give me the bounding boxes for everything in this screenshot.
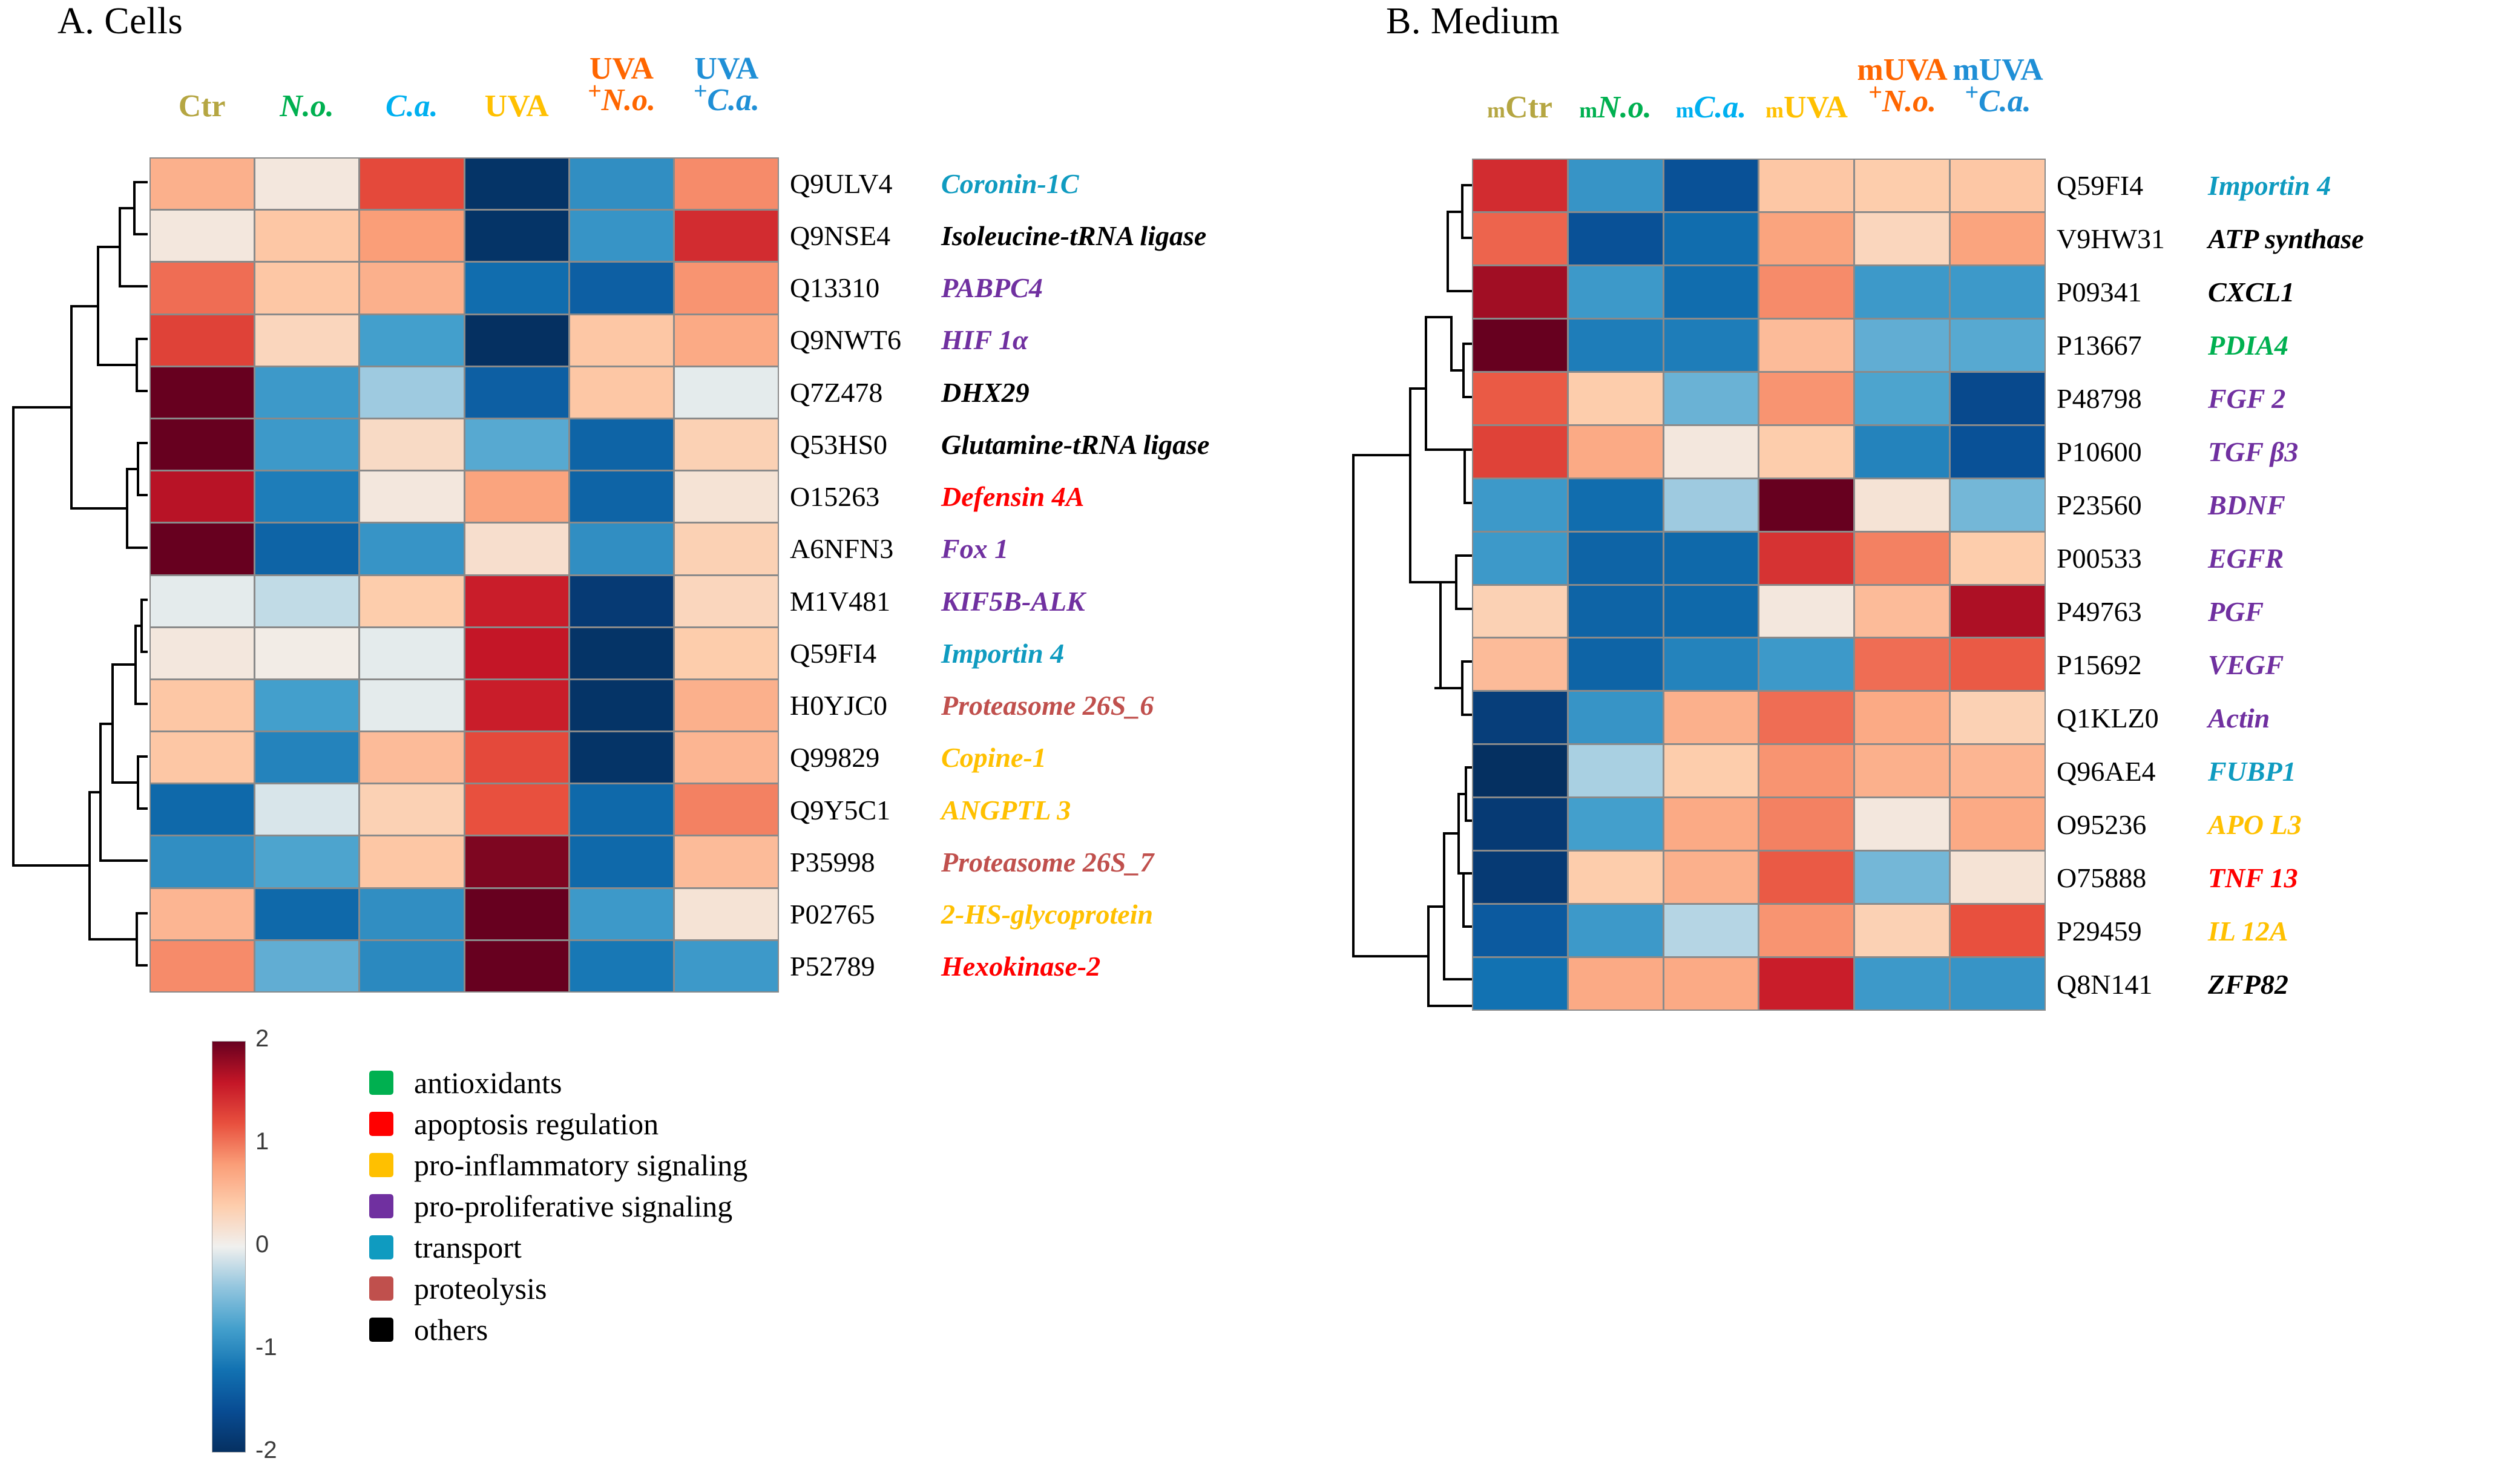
heatmap-cell <box>1951 479 2045 531</box>
heatmap-cell <box>1759 426 1853 478</box>
protein-name: PABPC4 <box>941 272 1043 304</box>
row-label: Q13310PABPC4 <box>790 262 1043 314</box>
heatmap-cell <box>570 836 673 887</box>
row-label: Q7Z478DHX29 <box>790 366 1030 418</box>
row-label: Q1KLZ0Actin <box>2057 691 2270 744</box>
protein-accession: P13667 <box>2057 329 2208 361</box>
colorbar-gradient <box>212 1041 246 1453</box>
row-label: P49763PGF <box>2057 585 2264 638</box>
protein-accession: O75888 <box>2057 862 2208 894</box>
protein-name: Proteasome 26S_6 <box>941 689 1154 721</box>
column-header-label: mC.a. <box>1663 92 1759 123</box>
heatmap-cell <box>1855 958 1949 1010</box>
heatmap-cell <box>675 471 778 522</box>
heatmap-cell <box>1951 320 2045 371</box>
heatmap-cell <box>1759 639 1853 690</box>
column-header-label: C.a. <box>360 91 464 122</box>
heatmap-cell <box>465 576 568 626</box>
heatmap-cell <box>675 315 778 366</box>
panel-b-row-dendrogram <box>1338 159 1477 1012</box>
heatmap-cell <box>675 367 778 418</box>
row-label: P15692VEGF <box>2057 638 2284 691</box>
heatmap-cell <box>255 941 358 991</box>
heatmap-cell <box>1569 905 1663 956</box>
heatmap-cell <box>1759 479 1853 531</box>
heatmap-cell <box>1951 266 2045 318</box>
heatmap-cell <box>570 471 673 522</box>
column-header-main: N.o. <box>1597 90 1652 125</box>
column-header-line2: +C.a. <box>674 85 779 116</box>
heatmap-cell <box>151 159 254 209</box>
legend-label: apoptosis regulation <box>414 1106 659 1141</box>
row-label: P10600TGF β3 <box>2057 425 2298 478</box>
colorbar-tick-label: 1 <box>255 1128 269 1155</box>
column-header-label: mN.o. <box>1568 92 1663 123</box>
heatmap-cell <box>255 680 358 731</box>
protein-name: FGF 2 <box>2208 382 2285 415</box>
plus-superscript: + <box>588 77 602 105</box>
column-header-line2: +C.a. <box>1950 86 2046 117</box>
heatmap-cell <box>570 315 673 366</box>
protein-name: VEGF <box>2208 649 2284 681</box>
heatmap-cell <box>570 367 673 418</box>
protein-name: TGF β3 <box>2208 436 2298 468</box>
heatmap-cell <box>1664 745 1758 796</box>
column-header-label: mCtr <box>1472 92 1568 123</box>
heatmap-cell <box>675 263 778 313</box>
heatmap-cell <box>1664 320 1758 371</box>
column-header-prefix: m <box>1676 98 1694 122</box>
heatmap-cell <box>360 524 463 574</box>
protein-accession: O95236 <box>2057 809 2208 841</box>
heatmap-cell <box>255 159 358 209</box>
heatmap-cell <box>1855 852 1949 903</box>
heatmap-cell <box>1855 479 1949 531</box>
column-header-prefix: m <box>1579 98 1597 122</box>
heatmap-cell <box>1664 373 1758 424</box>
heatmap-cell <box>1473 852 1567 903</box>
colorbar-tick-label: -1 <box>255 1334 277 1361</box>
heatmap-cell <box>1664 426 1758 478</box>
column-header-line2: +N.o. <box>1854 86 1950 117</box>
heatmap-cell <box>1664 692 1758 743</box>
heatmap-cell <box>360 419 463 470</box>
heatmap-cell <box>570 419 673 470</box>
heatmap-cell <box>360 889 463 939</box>
protein-accession: P15692 <box>2057 649 2208 681</box>
heatmap-cell <box>1951 798 2045 850</box>
heatmap-cell <box>1569 639 1663 690</box>
row-label: O15263Defensin 4A <box>790 471 1084 523</box>
heatmap-cell <box>570 628 673 678</box>
heatmap-cell <box>1473 798 1567 850</box>
heatmap-cell <box>465 159 568 209</box>
heatmap-cell <box>255 732 358 783</box>
heatmap-cell <box>1951 852 2045 903</box>
heatmap-cell <box>255 836 358 887</box>
column-header-line1: UVA <box>674 53 779 85</box>
heatmap-cell <box>360 315 463 366</box>
legend-color-swatch <box>369 1194 393 1218</box>
legend-color-swatch <box>369 1276 393 1301</box>
protein-name: Glutamine-tRNA ligase <box>941 428 1209 461</box>
heatmap-cell <box>1855 266 1949 318</box>
heatmap-cell <box>151 784 254 835</box>
heatmap-cell <box>465 784 568 835</box>
protein-accession: Q9ULV4 <box>790 168 941 200</box>
heatmap-cell <box>1855 320 1949 371</box>
column-header-label: N.o. <box>254 91 359 122</box>
heatmap-cell <box>1569 266 1663 318</box>
row-label: H0YJC0Proteasome 26S_6 <box>790 680 1154 732</box>
column-header-label: mUVA <box>1759 92 1854 123</box>
heatmap-cell <box>675 576 778 626</box>
heatmap-cell <box>1664 798 1758 850</box>
protein-accession: P23560 <box>2057 489 2208 521</box>
heatmap-cell <box>1664 266 1758 318</box>
protein-accession: P29459 <box>2057 915 2208 947</box>
heatmap-cell <box>465 263 568 313</box>
heatmap-cell <box>255 628 358 678</box>
heatmap-cell <box>1855 639 1949 690</box>
protein-name: EGFR <box>2208 542 2284 574</box>
heatmap-cell <box>1951 692 2045 743</box>
column-header-2: N.o. <box>254 91 359 122</box>
heatmap-cell <box>570 524 673 574</box>
heatmap-cell <box>1473 373 1567 424</box>
heatmap-cell <box>1759 320 1853 371</box>
heatmap-cell <box>360 784 463 835</box>
column-header-main: Ctr <box>179 89 226 123</box>
column-header-prefix: m <box>1765 98 1784 122</box>
heatmap-cell <box>675 211 778 261</box>
heatmap-cell <box>1855 373 1949 424</box>
heatmap-cell <box>1473 320 1567 371</box>
column-header-main: N.o. <box>280 89 334 123</box>
protein-name: Fox 1 <box>941 533 1008 565</box>
heatmap-cell <box>1951 586 2045 637</box>
protein-name: Importin 4 <box>2208 169 2331 202</box>
heatmap-cell <box>1569 798 1663 850</box>
heatmap-cell <box>1759 798 1853 850</box>
heatmap-cell <box>1759 692 1853 743</box>
heatmap-cell <box>675 941 778 991</box>
protein-accession: P35998 <box>790 846 941 878</box>
heatmap-cell <box>255 784 358 835</box>
protein-accession: P48798 <box>2057 382 2208 415</box>
row-label: Q9NSE4Isoleucine-tRNA ligase <box>790 209 1206 261</box>
panel-a-title: A. Cells <box>57 0 183 43</box>
protein-name: APO L3 <box>2208 809 2302 841</box>
legend-item-1: antioxidants <box>369 1062 747 1103</box>
protein-accession: Q1KLZ0 <box>2057 702 2208 734</box>
heatmap-cell <box>465 680 568 731</box>
protein-name: IL 12A <box>2208 915 2288 947</box>
colorbar-tick-label: 2 <box>255 1025 269 1052</box>
category-legend: antioxidantsapoptosis regulationpro-infl… <box>369 1062 747 1350</box>
heatmap-cell <box>1473 426 1567 478</box>
protein-name: Importin 4 <box>941 637 1064 669</box>
heatmap-cell <box>1664 213 1758 264</box>
column-header-label: Ctr <box>149 91 254 122</box>
row-label: P52789Hexokinase-2 <box>790 941 1100 993</box>
heatmap-cell <box>360 576 463 626</box>
heatmap-cell <box>1569 692 1663 743</box>
heatmap-cell <box>1759 905 1853 956</box>
protein-name: Proteasome 26S_7 <box>941 846 1154 878</box>
panel-b-title: B. Medium <box>1386 0 1560 43</box>
heatmap-cell <box>1759 852 1853 903</box>
heatmap-cell <box>1759 160 1853 211</box>
protein-name: ANGPTL 3 <box>941 794 1071 826</box>
column-header-main: UVA <box>485 89 549 123</box>
legend-item-2: apoptosis regulation <box>369 1103 747 1144</box>
heatmap-cell <box>675 836 778 887</box>
heatmap-cell <box>675 889 778 939</box>
legend-color-swatch <box>369 1071 393 1095</box>
heatmap-cell <box>465 315 568 366</box>
heatmap-cell <box>360 732 463 783</box>
heatmap-cell <box>255 211 358 261</box>
column-header-5: UVA+N.o. <box>569 53 674 116</box>
column-header-1: Ctr <box>149 91 254 122</box>
heatmap-cell <box>360 836 463 887</box>
column-header-1: mCtr <box>1472 92 1568 123</box>
protein-accession: P49763 <box>2057 596 2208 628</box>
heatmap-cell <box>1473 692 1567 743</box>
heatmap-cell <box>360 941 463 991</box>
heatmap-cell <box>255 471 358 522</box>
legend-label: others <box>414 1312 488 1347</box>
heatmap-cell <box>570 941 673 991</box>
heatmap-cell <box>1664 479 1758 531</box>
row-label: P48798FGF 2 <box>2057 372 2285 425</box>
protein-name: Copine-1 <box>941 741 1046 773</box>
row-label: P23560BDNF <box>2057 478 2285 531</box>
heatmap-cell <box>465 211 568 261</box>
heatmap-cell <box>570 263 673 313</box>
heatmap-cell <box>465 471 568 522</box>
heatmap-cell <box>1759 586 1853 637</box>
heatmap-cell <box>465 732 568 783</box>
protein-name: Actin <box>2208 702 2270 734</box>
heatmap-cell <box>465 628 568 678</box>
legend-label: transport <box>414 1230 522 1265</box>
heatmap-cell <box>255 419 358 470</box>
row-label: V9HW31ATP synthase <box>2057 212 2364 265</box>
column-header-6: UVA+C.a. <box>674 53 779 116</box>
legend-item-5: transport <box>369 1227 747 1268</box>
legend-color-swatch <box>369 1235 393 1259</box>
column-header-main: Ctr <box>1505 90 1552 125</box>
heatmap-cell <box>570 211 673 261</box>
heatmap-cell <box>1473 745 1567 796</box>
panel-a-row-dendrogram <box>0 156 151 997</box>
heatmap-cell <box>255 315 358 366</box>
heatmap-cell <box>151 471 254 522</box>
heatmap-cell <box>1855 745 1949 796</box>
heatmap-cell <box>675 524 778 574</box>
legend-color-swatch <box>369 1318 393 1342</box>
heatmap-cell <box>1951 533 2045 584</box>
heatmap-cell <box>1569 533 1663 584</box>
column-header-3: C.a. <box>360 91 464 122</box>
heatmap-cell <box>675 159 778 209</box>
column-header-6: mUVA+C.a. <box>1950 54 2046 117</box>
legend-item-7: others <box>369 1309 747 1350</box>
heatmap-cell <box>1473 958 1567 1010</box>
protein-accession: Q9Y5C1 <box>790 794 941 826</box>
protein-accession: Q59FI4 <box>790 637 941 669</box>
heatmap-cell <box>360 628 463 678</box>
protein-accession: M1V481 <box>790 585 941 617</box>
protein-name: FUBP1 <box>2208 755 2296 787</box>
heatmap-cell <box>151 419 254 470</box>
legend-color-swatch <box>369 1153 393 1177</box>
heatmap-cell <box>1759 266 1853 318</box>
heatmap-cell <box>151 315 254 366</box>
column-header-label: UVA <box>464 91 569 122</box>
heatmap-cell <box>151 628 254 678</box>
legend-item-3: pro-inflammatory signaling <box>369 1144 747 1186</box>
protein-accession: A6NFN3 <box>790 533 941 565</box>
row-label: P35998Proteasome 26S_7 <box>790 836 1154 888</box>
row-label: P13667PDIA4 <box>2057 318 2288 372</box>
protein-name: Hexokinase-2 <box>941 950 1100 982</box>
row-label: O95236APO L3 <box>2057 798 2302 851</box>
protein-accession: P09341 <box>2057 276 2208 308</box>
heatmap-cell <box>465 524 568 574</box>
protein-accession: P02765 <box>790 898 941 930</box>
heatmap-cell <box>360 159 463 209</box>
heatmap-cell <box>1951 639 2045 690</box>
column-header-5: mUVA+N.o. <box>1854 54 1950 117</box>
heatmap-cell <box>1855 160 1949 211</box>
heatmap-cell <box>570 784 673 835</box>
heatmap-cell <box>1473 266 1567 318</box>
heatmap-cell <box>255 576 358 626</box>
heatmap-cell <box>1664 958 1758 1010</box>
column-header-prefix: m <box>1487 98 1505 122</box>
heatmap-cell <box>1759 533 1853 584</box>
protein-name: CXCL1 <box>2208 276 2294 308</box>
heatmap-cell <box>1951 958 2045 1010</box>
legend-label: pro-inflammatory signaling <box>414 1147 747 1183</box>
heatmap-cell <box>1855 905 1949 956</box>
heatmap-cell <box>151 211 254 261</box>
row-label: M1V481KIF5B-ALK <box>790 575 1085 627</box>
row-label: P29459IL 12A <box>2057 904 2288 957</box>
protein-accession: V9HW31 <box>2057 223 2208 255</box>
heatmap-cell <box>1855 533 1949 584</box>
heatmap-cell <box>1569 426 1663 478</box>
plus-superscript: + <box>694 77 708 105</box>
protein-accession: Q9NWT6 <box>790 324 941 356</box>
heatmap-cell <box>1664 639 1758 690</box>
legend-item-4: pro-proliferative signaling <box>369 1186 747 1227</box>
heatmap-cell <box>1759 745 1853 796</box>
legend-color-swatch <box>369 1112 393 1136</box>
heatmap-cell <box>675 680 778 731</box>
protein-accession: P52789 <box>790 950 941 982</box>
heatmap-cell <box>1855 586 1949 637</box>
protein-accession: Q7Z478 <box>790 376 941 409</box>
column-header-line1: UVA <box>569 53 674 85</box>
heatmap-cell <box>1569 373 1663 424</box>
protein-name: DHX29 <box>941 376 1030 409</box>
legend-label: proteolysis <box>414 1271 547 1306</box>
protein-name: PDIA4 <box>2208 329 2288 361</box>
row-label: Q8N141ZFP82 <box>2057 957 2288 1011</box>
heatmap-cell <box>1759 213 1853 264</box>
protein-name: Defensin 4A <box>941 481 1084 513</box>
heatmap-cell <box>1569 852 1663 903</box>
row-label: A6NFN3Fox 1 <box>790 523 1008 575</box>
row-label: P00533EGFR <box>2057 531 2284 585</box>
heatmap-cell <box>1855 426 1949 478</box>
heatmap-cell <box>1664 586 1758 637</box>
colorbar-tick-label: 0 <box>255 1231 269 1258</box>
legend-label: antioxidants <box>414 1065 562 1100</box>
heatmap-cell <box>360 263 463 313</box>
heatmap-cell <box>465 889 568 939</box>
heatmap-cell <box>1664 852 1758 903</box>
row-label: Q9Y5C1ANGPTL 3 <box>790 784 1071 836</box>
protein-name: TNF 13 <box>2208 862 2298 894</box>
protein-name: HIF 1α <box>941 324 1028 356</box>
heatmap-cell <box>1951 213 2045 264</box>
heatmap-cell <box>255 367 358 418</box>
protein-accession: P10600 <box>2057 436 2208 468</box>
heatmap-cell <box>1569 958 1663 1010</box>
plus-superscript: + <box>1868 79 1882 106</box>
row-label: Q9NWT6HIF 1α <box>790 314 1028 366</box>
heatmap-cell <box>255 889 358 939</box>
heatmap-cell <box>151 524 254 574</box>
heatmap-cell <box>570 889 673 939</box>
column-header-4: mUVA <box>1759 92 1854 123</box>
heatmap-cell <box>1664 533 1758 584</box>
heatmap-cell <box>1473 533 1567 584</box>
column-header-3: mC.a. <box>1663 92 1759 123</box>
row-label: Q59FI4Importin 4 <box>2057 159 2331 212</box>
protein-name: ATP synthase <box>2208 223 2364 255</box>
protein-name: KIF5B-ALK <box>941 585 1085 617</box>
heatmap-cell <box>1473 639 1567 690</box>
heatmap-cell <box>1473 213 1567 264</box>
heatmap-cell <box>465 941 568 991</box>
colorbar-tick-label: -2 <box>255 1437 277 1464</box>
heatmap-cell <box>255 524 358 574</box>
panel-a-row-labels: Q9ULV4Coronin-1CQ9NSE4Isoleucine-tRNA li… <box>790 157 1286 993</box>
protein-name: BDNF <box>2208 489 2285 521</box>
heatmap-cell <box>151 732 254 783</box>
heatmap-cell <box>360 680 463 731</box>
heatmap-cell <box>675 732 778 783</box>
row-label: Q96AE4FUBP1 <box>2057 744 2296 798</box>
heatmap-cell <box>1759 373 1853 424</box>
colorbar: 210-1-2 <box>212 1029 393 1465</box>
column-header-2: mN.o. <box>1568 92 1663 123</box>
heatmap-cell <box>1855 798 1949 850</box>
heatmap-cell <box>1569 160 1663 211</box>
protein-accession: Q99829 <box>790 741 941 773</box>
protein-name: ZFP82 <box>2208 968 2288 1000</box>
heatmap-cell <box>1569 213 1663 264</box>
row-label: O75888TNF 13 <box>2057 851 2298 904</box>
heatmap-cell <box>1951 905 2045 956</box>
row-label: Q9ULV4Coronin-1C <box>790 157 1079 209</box>
